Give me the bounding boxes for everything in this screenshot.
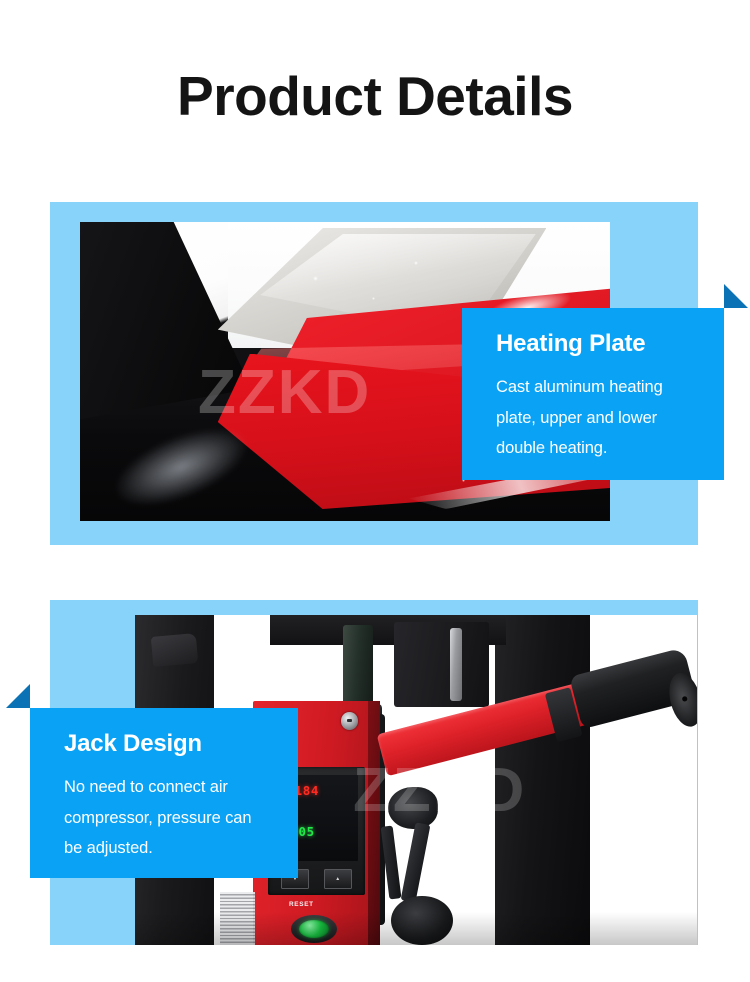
press-column-right xyxy=(495,615,591,945)
callout-jack-design: Jack Design No need to connect air compr… xyxy=(30,708,298,878)
panel-jack-design: TEMP 184 TIME 0005 ▼ ▲ RESET ZZKD Jack D… xyxy=(50,600,698,945)
dust-speck xyxy=(414,261,418,265)
panel-heating-plate: ZZKD Heating Plate Cast aluminum heating… xyxy=(50,202,698,545)
callout-fold-corner-icon xyxy=(724,284,748,308)
callout-body: Cast aluminum heating plate, upper and l… xyxy=(496,372,698,464)
page-title: Product Details xyxy=(0,66,750,127)
reset-label: RESET xyxy=(289,901,314,908)
callout-title: Jack Design xyxy=(64,730,272,758)
screw-icon xyxy=(341,712,358,730)
callout-title: Heating Plate xyxy=(496,330,698,358)
dust-speck xyxy=(313,276,318,281)
lever-pivot-joint xyxy=(388,787,439,830)
locking-pin xyxy=(450,628,462,701)
callout-heating-plate: Heating Plate Cast aluminum heating plat… xyxy=(462,308,724,480)
controller-up-button[interactable]: ▲ xyxy=(324,869,352,889)
column-bracket-tab xyxy=(151,633,198,666)
callout-fold-corner-icon xyxy=(6,684,30,708)
mounting-bracket xyxy=(394,622,490,708)
dust-speck xyxy=(372,297,375,300)
controller-temp-value: 184 xyxy=(295,785,319,798)
photo-bottom-shadow xyxy=(135,912,697,945)
callout-body: No need to connect air compressor, press… xyxy=(64,772,272,864)
